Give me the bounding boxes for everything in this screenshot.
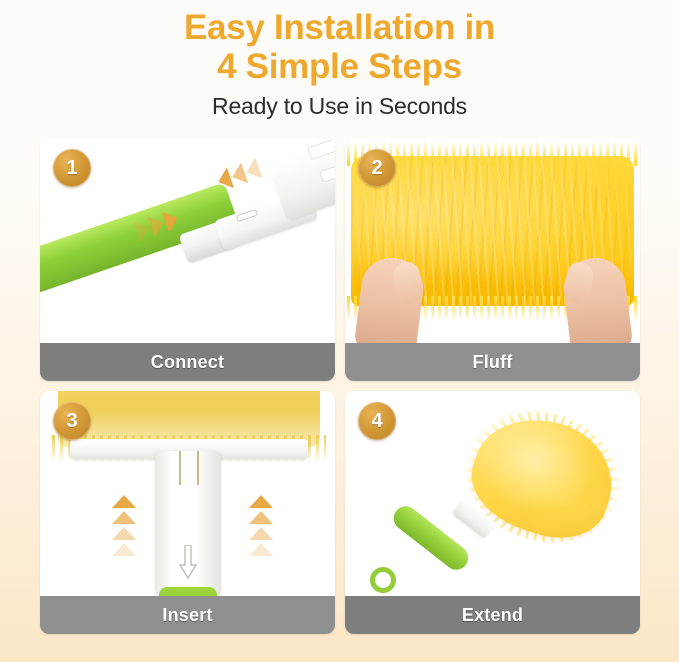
step-badge-number: 3 <box>66 411 77 431</box>
step-card-extend[interactable]: 4 Extend <box>345 391 640 634</box>
step-card-connect[interactable]: 1 Connect <box>40 138 335 381</box>
hanging-loop-shape <box>365 562 401 596</box>
page-subtitle: Ready to Use in Seconds <box>0 93 679 120</box>
thumb-shape <box>564 261 595 306</box>
step-label-insert: Insert <box>162 605 212 626</box>
chevron-up-icon <box>112 495 136 556</box>
arrow-down-icon <box>178 545 198 579</box>
step-label-bar-connect: Connect <box>40 343 335 381</box>
step-label-extend: Extend <box>462 605 523 626</box>
step-label-fluff: Fluff <box>473 352 513 373</box>
chevron-left-icon <box>215 158 263 193</box>
step-badge-2: 2 <box>358 149 396 187</box>
step-card-fluff[interactable]: 2 Fluff <box>345 138 640 381</box>
step-label-bar-extend: Extend <box>345 596 640 634</box>
step-label-bar-insert: Insert <box>40 596 335 634</box>
step-label-bar-fluff: Fluff <box>345 343 640 381</box>
mount-slit-shape <box>179 451 181 485</box>
page-title: Easy Installation in 4 Simple Steps <box>0 8 679 86</box>
step-badge-3: 3 <box>53 402 91 440</box>
step-badge-4: 4 <box>358 402 396 440</box>
mount-slit-shape <box>197 451 199 485</box>
step-card-insert[interactable]: 3 Insert <box>40 391 335 634</box>
step-badge-number: 2 <box>371 158 382 178</box>
page-title-line-2: 4 Simple Steps <box>0 47 679 86</box>
step-badge-number: 4 <box>371 411 382 431</box>
page-title-line-1: Easy Installation in <box>0 8 679 47</box>
chevron-up-icon <box>249 495 273 556</box>
header: Easy Installation in 4 Simple Steps Read… <box>0 0 679 120</box>
green-handle-shape <box>159 587 217 596</box>
step-badge-number: 1 <box>66 158 77 178</box>
step-badge-1: 1 <box>53 149 91 187</box>
step-label-connect: Connect <box>151 352 224 373</box>
steps-grid: 1 Connect 2 Fluff <box>40 138 640 634</box>
